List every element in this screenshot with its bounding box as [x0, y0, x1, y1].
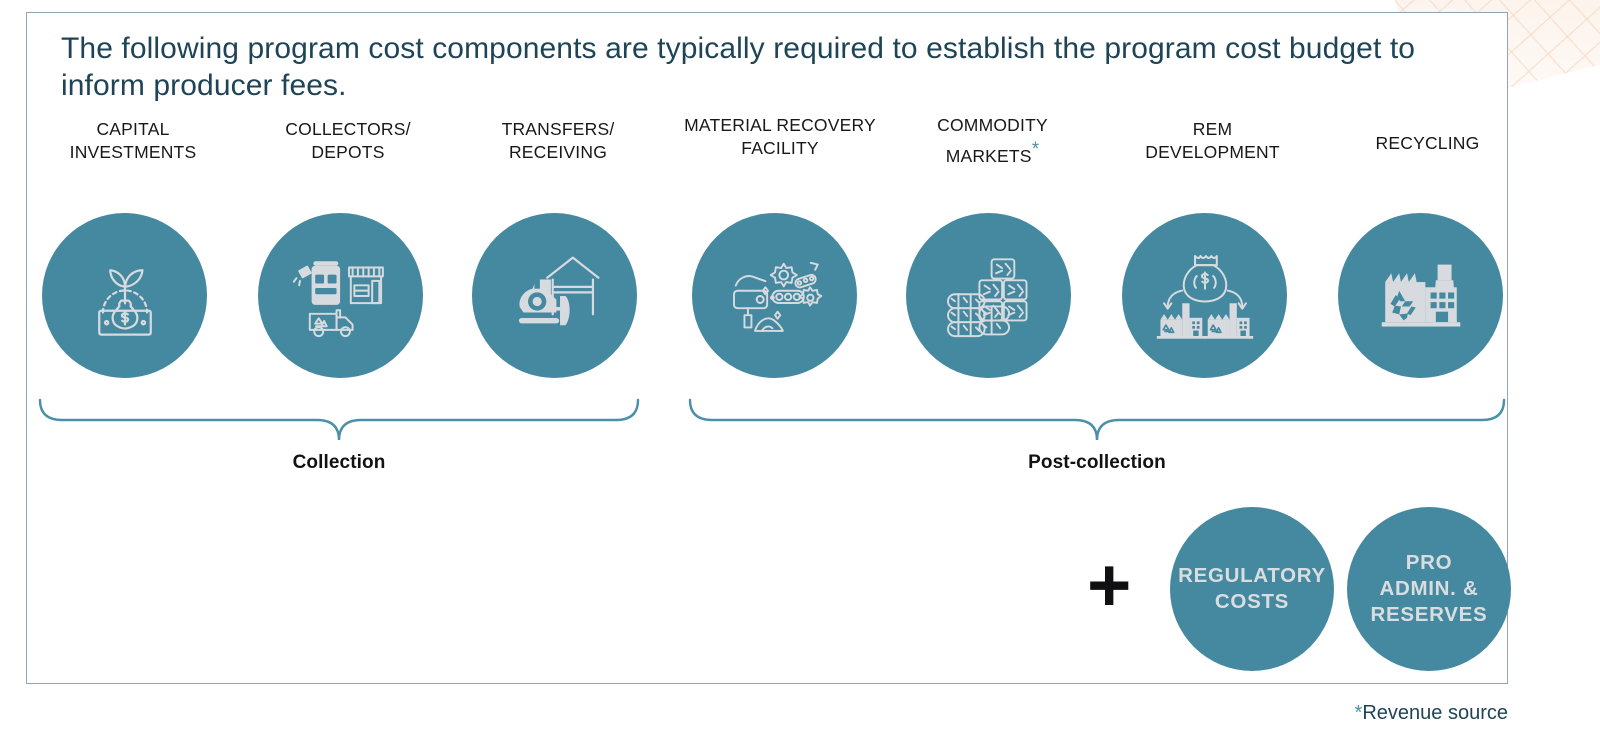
circle-commodity-markets[interactable] — [906, 213, 1071, 378]
brace-post-collection — [688, 398, 1506, 442]
group-label-collection: Collection — [38, 452, 640, 474]
column-label-transfers-receiving: TRANSFERS/ RECEIVING — [458, 118, 658, 164]
collection-truck-storefront-icon — [292, 250, 390, 342]
conveyor-gears-sorting-icon — [727, 251, 823, 341]
circle-recycling[interactable] — [1338, 213, 1503, 378]
stacked-bales-icon — [941, 251, 1037, 341]
group-label-post-collection: Post-collection — [688, 452, 1506, 474]
circle-pro-admin-reserves[interactable]: PRO ADMIN. & RESERVES — [1347, 507, 1511, 671]
column-label-material-recovery-facility: MATERIAL RECOVERY FACILITY — [655, 114, 905, 160]
circle-collectors-depots[interactable] — [258, 213, 423, 378]
money-bag-factories-icon — [1155, 250, 1255, 342]
footnote: *Revenue source — [1355, 702, 1508, 725]
circle-regulatory-costs[interactable]: REGULATORY COSTS — [1170, 507, 1334, 671]
footnote-text: Revenue source — [1362, 702, 1508, 724]
plus-symbol: + — [1087, 548, 1131, 624]
brace-collection — [38, 398, 640, 442]
circle-rem-development[interactable] — [1122, 213, 1287, 378]
circle-transfers-receiving[interactable] — [472, 213, 637, 378]
footnote-marker-asterisk: * — [1032, 139, 1040, 160]
money-bag-plant-icon — [79, 250, 171, 342]
column-label-collectors-depots: COLLECTORS/ DEPOTS — [248, 118, 448, 164]
icon-circle-row — [0, 200, 1600, 390]
circle-material-recovery-facility[interactable] — [692, 213, 857, 378]
column-label-commodity-markets: COMMODITY MARKETS* — [885, 114, 1100, 168]
recycling-factory-icon — [1373, 251, 1469, 341]
column-label-rem-development: REM DEVELOPMENT — [1105, 118, 1320, 164]
column-label-capital-investments: CAPITAL INVESTMENTS — [33, 118, 233, 164]
circle-capital-investments[interactable] — [42, 213, 207, 378]
column-labels: CAPITAL INVESTMENTS COLLECTORS/ DEPOTS T… — [0, 118, 1600, 188]
column-label-recycling: RECYCLING — [1335, 132, 1520, 155]
page-title: The following program cost components ar… — [61, 31, 1481, 104]
warehouse-bulldozer-icon — [507, 250, 603, 342]
